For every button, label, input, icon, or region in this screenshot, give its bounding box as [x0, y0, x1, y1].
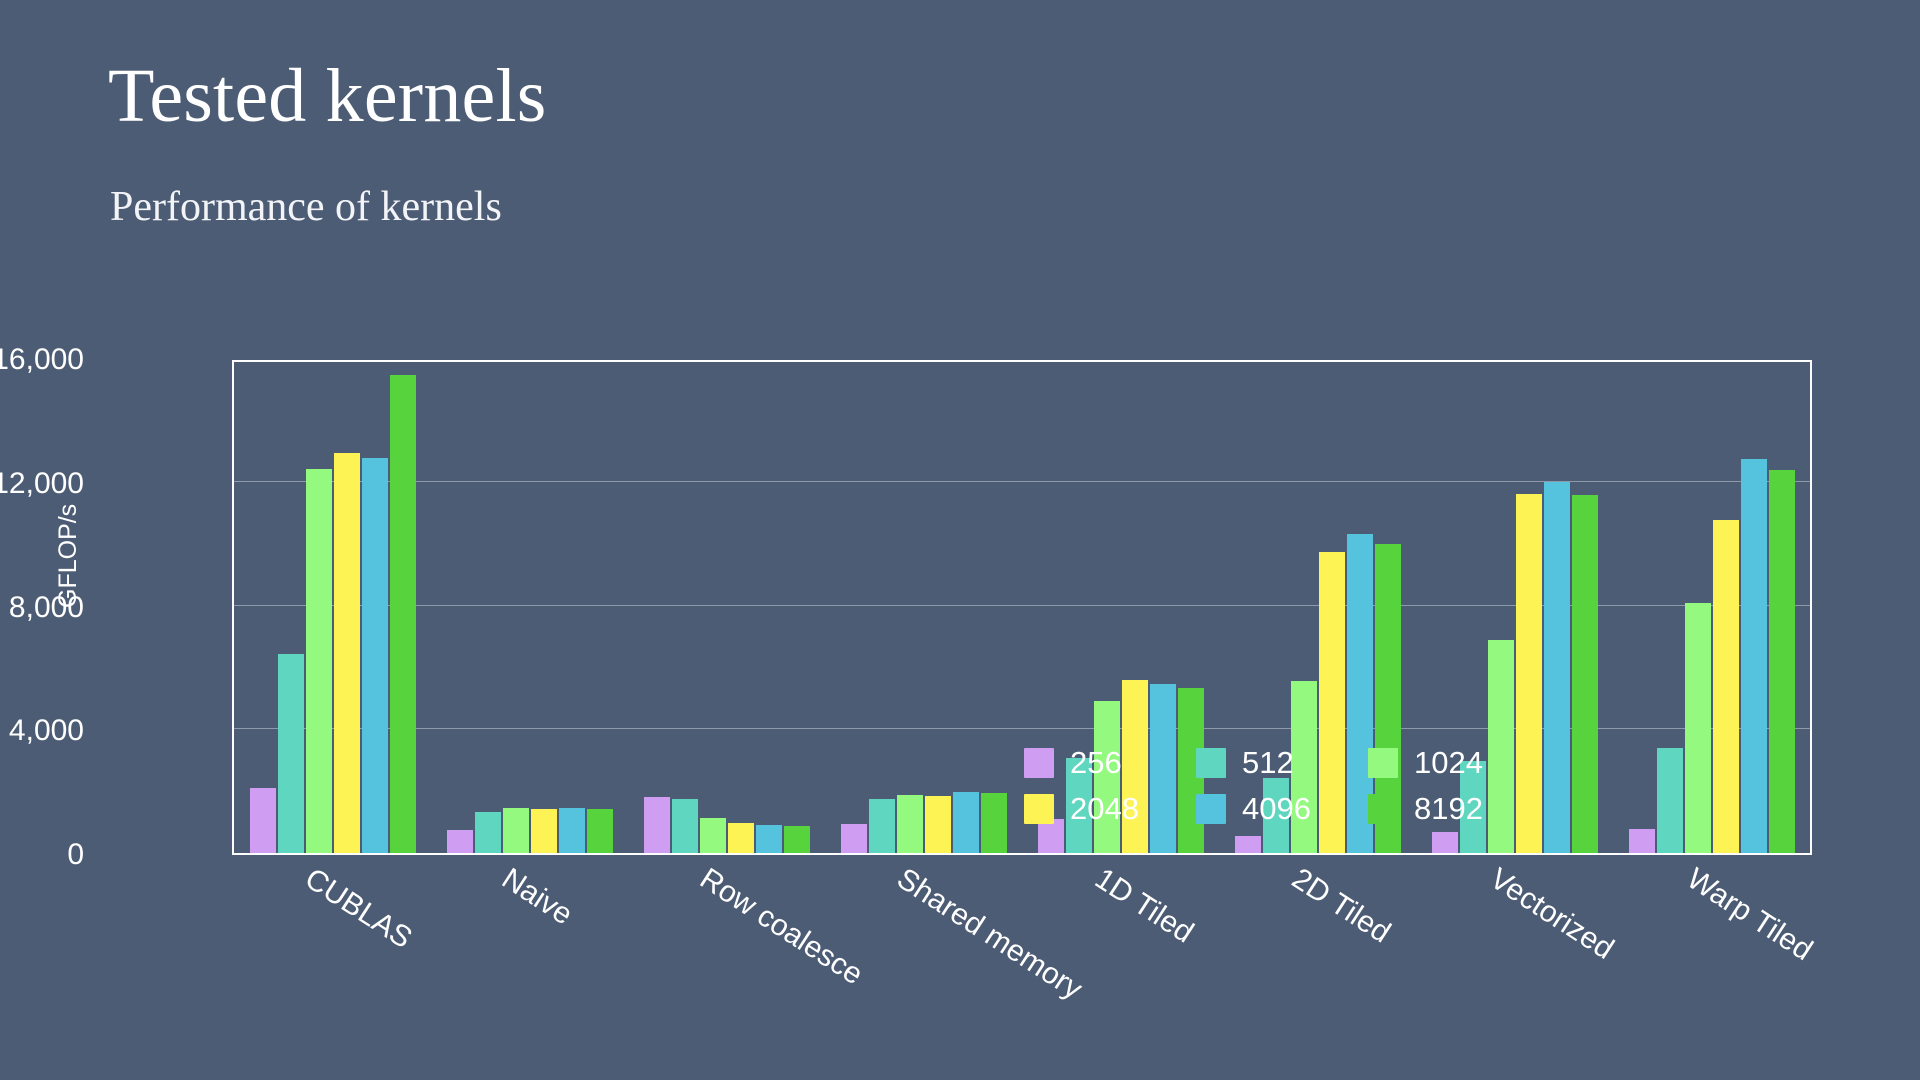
legend-label: 1024	[1414, 745, 1483, 781]
legend-label: 8192	[1414, 791, 1483, 827]
x-tick-cell: 2D Tiled	[1220, 862, 1418, 1062]
x-axis-tick-labels: CUBLASNaiveRow coalesceShared memory1D T…	[232, 862, 1812, 1062]
bar-8192[interactable]	[981, 793, 1007, 853]
bar-group	[825, 362, 1022, 853]
bar-256[interactable]	[447, 830, 473, 854]
bar-8192[interactable]	[587, 809, 613, 853]
y-tick-label: 8,000	[0, 593, 84, 623]
x-tick-cell: Row coalesce	[627, 862, 825, 1062]
x-tick-label: 2D Tiled	[1286, 862, 1397, 950]
bar-256[interactable]	[841, 824, 867, 853]
bar-2048[interactable]	[728, 823, 754, 853]
x-tick-label: Warp Tiled	[1681, 862, 1819, 968]
bar-2048[interactable]	[925, 796, 951, 853]
y-tick-label: 0	[0, 840, 84, 870]
bar-1024[interactable]	[897, 795, 923, 853]
x-tick-cell: CUBLAS	[232, 862, 430, 1062]
legend-item-8192[interactable]: 8192	[1368, 791, 1540, 827]
bar-512[interactable]	[475, 812, 501, 853]
legend-swatch-icon	[1196, 794, 1226, 824]
bar-256[interactable]	[644, 797, 670, 853]
bar-8192[interactable]	[1769, 470, 1795, 853]
x-tick-cell: Vectorized	[1417, 862, 1615, 1062]
bar-group	[1613, 362, 1810, 853]
legend-item-1024[interactable]: 1024	[1368, 745, 1540, 781]
x-tick-cell: Shared memory	[825, 862, 1023, 1062]
bar-512[interactable]	[869, 799, 895, 853]
x-tick-label: CUBLAS	[298, 862, 417, 956]
x-tick-label: Naive	[496, 862, 579, 932]
bar-8192[interactable]	[390, 375, 416, 853]
chart-plot-area: 2565121024204840968192	[232, 360, 1812, 855]
bar-4096[interactable]	[559, 808, 585, 853]
bar-8192[interactable]	[784, 826, 810, 853]
legend-item-512[interactable]: 512	[1196, 745, 1368, 781]
x-tick-label: Vectorized	[1483, 862, 1619, 967]
bar-groups	[234, 362, 1810, 853]
legend-item-256[interactable]: 256	[1024, 745, 1196, 781]
legend-swatch-icon	[1368, 748, 1398, 778]
bar-1024[interactable]	[700, 818, 726, 853]
bar-group	[234, 362, 431, 853]
bar-256[interactable]	[1629, 829, 1655, 853]
y-tick-label: 16,000	[0, 345, 84, 375]
bar-512[interactable]	[278, 654, 304, 853]
bar-4096[interactable]	[362, 458, 388, 853]
bar-4096[interactable]	[1741, 459, 1767, 853]
y-tick-label: 12,000	[0, 469, 84, 499]
x-tick-cell: Naive	[430, 862, 628, 1062]
slide-root: Tested kernels Performance of kernels GF…	[0, 0, 1920, 1080]
bar-512[interactable]	[672, 799, 698, 853]
bar-group	[431, 362, 628, 853]
x-tick-cell: 1D Tiled	[1022, 862, 1220, 1062]
legend-swatch-icon	[1024, 748, 1054, 778]
legend-item-4096[interactable]: 4096	[1196, 791, 1368, 827]
legend-label: 2048	[1070, 791, 1139, 827]
bar-group	[628, 362, 825, 853]
bar-1024[interactable]	[1685, 603, 1711, 853]
x-tick-cell: Warp Tiled	[1615, 862, 1813, 1062]
legend-swatch-icon	[1368, 794, 1398, 824]
bar-8192[interactable]	[1572, 495, 1598, 853]
bar-2048[interactable]	[334, 453, 360, 853]
legend-label: 512	[1242, 745, 1294, 781]
x-tick-label: 1D Tiled	[1088, 862, 1199, 950]
bar-1024[interactable]	[503, 808, 529, 853]
chart-legend: 2565121024204840968192	[1024, 740, 1540, 832]
bar-512[interactable]	[1657, 748, 1683, 853]
y-tick-label: 4,000	[0, 716, 84, 746]
bar-2048[interactable]	[1713, 520, 1739, 853]
page-title: Tested kernels	[108, 58, 547, 134]
bar-2048[interactable]	[531, 809, 557, 853]
bar-256[interactable]	[250, 788, 276, 853]
legend-item-2048[interactable]: 2048	[1024, 791, 1196, 827]
page-subtitle: Performance of kernels	[110, 186, 502, 228]
legend-label: 256	[1070, 745, 1122, 781]
legend-label: 4096	[1242, 791, 1311, 827]
bar-4096[interactable]	[953, 792, 979, 853]
bar-4096[interactable]	[756, 825, 782, 853]
bar-256[interactable]	[1235, 836, 1261, 853]
bar-1024[interactable]	[306, 469, 332, 853]
bar-256[interactable]	[1432, 832, 1458, 853]
legend-swatch-icon	[1024, 794, 1054, 824]
legend-swatch-icon	[1196, 748, 1226, 778]
bar-4096[interactable]	[1544, 482, 1570, 853]
